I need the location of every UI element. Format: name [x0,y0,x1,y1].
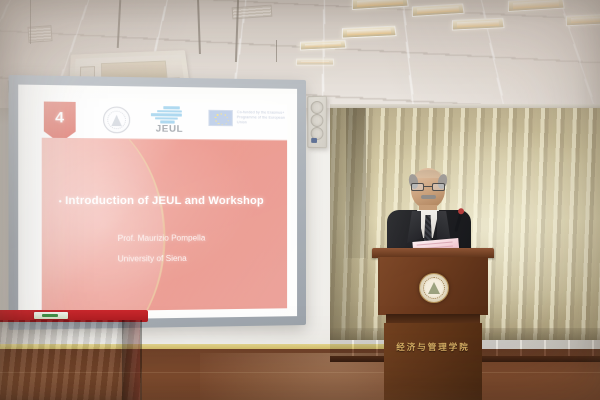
slide-presenter: Prof. Maurizio Pompella [118,233,206,243]
slide-title: •Introduction of JEUL and Workshop [59,195,273,207]
draped-table [0,310,148,400]
speaker-indicator-icon [311,138,317,143]
slide-number: 4 [55,109,64,127]
conference-room-photo: 4 JEUL [0,0,600,400]
presenter-crown [415,170,441,178]
podium-sign-text: 经济与管理学院 [384,341,482,353]
jeul-logo-blocks-icon [151,106,192,124]
podium-emblem-icon [419,273,449,303]
slide-number-badge: 4 [44,102,76,144]
projection-surface: 4 JEUL [18,85,297,321]
slide-affiliation: University of Siena [118,254,187,264]
glasses-lens-right [432,183,445,191]
speaker-driver-icon [311,114,324,127]
table-cloth-fold [122,320,140,400]
projection-screen[interactable]: 4 JEUL [9,75,306,330]
jeul-logo: JEUL [145,106,194,137]
slide-header: 4 JEUL [42,101,287,140]
podium: 经济与管理学院 [372,248,494,400]
table-name-card [34,312,68,319]
suspension-wire [276,40,277,62]
slide-bullet-glyph: • [59,196,62,205]
jeul-wordmark: JEUL [145,123,194,135]
eu-stars-icon [209,111,231,125]
wall-speaker [307,96,327,149]
ceiling-shadow-right [300,0,600,118]
presentation-slide: 4 JEUL [42,101,287,311]
glasses-bridge [424,186,432,187]
university-seal-icon [103,106,130,133]
curtain-shadow [330,108,376,340]
eu-funding-text: Co-funded by the Erasmus+ Programme of t… [237,110,287,126]
slide-title-text: Introduction of JEUL and Workshop [65,195,264,207]
emblem-pagoda-icon [428,282,440,294]
seal-ring [107,111,126,130]
table-cloth [0,320,142,400]
presenter [383,168,475,254]
slide-glow [42,139,287,312]
glasses-icon [411,183,445,191]
glasses-lens-left [411,183,424,191]
slide-body: •Introduction of JEUL and Workshop Prof.… [42,139,287,312]
podium-base: 经济与管理学院 [384,323,482,400]
speaker-driver-icon [311,101,324,114]
podium-front-panel [378,257,488,315]
presenter-moustache [421,195,436,199]
eu-flag-icon [208,110,232,126]
